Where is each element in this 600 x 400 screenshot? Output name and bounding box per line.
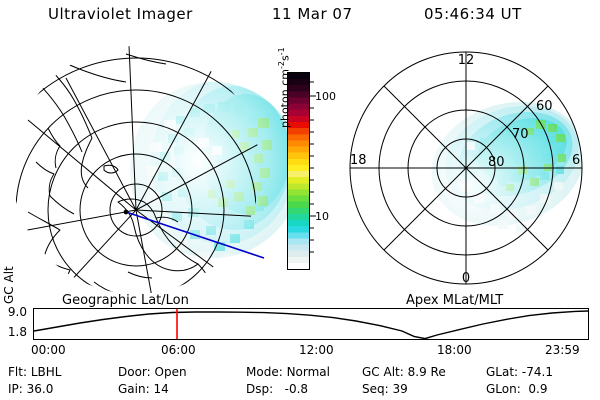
orbit-altitude-trace	[34, 311, 588, 339]
status-glon-value: 0.9	[528, 382, 547, 396]
status-glon-label: GLon:	[486, 382, 521, 396]
status-mode-label: Mode:	[246, 365, 283, 379]
orbit-xtick-0600: 06:00	[161, 344, 196, 356]
orbit-altitude-chart[interactable]: GC Alt 9.0 1.8 00:00 06:00 12:00 18:00 2…	[33, 308, 589, 340]
uvi-display: Ultraviolet Imager 11 Mar 07 05:46:34 UT	[0, 0, 600, 400]
apex-panel-caption: Apex MLat/MLT	[406, 294, 503, 307]
status-glon: GLon: 0.9	[486, 383, 548, 395]
status-dsp-value: -0.8	[285, 382, 308, 396]
status-glat-value: -74.1	[522, 365, 553, 379]
mlat-label-80: 80	[488, 155, 505, 170]
mlt-dial-grid	[350, 52, 582, 284]
orbit-ytick-bottom: 1.8	[8, 326, 27, 338]
colorbar-tick-100: 100	[315, 91, 336, 102]
status-glat-label: GLat:	[486, 365, 518, 379]
status-gain-label: Gain:	[118, 382, 150, 396]
status-dsp: Dsp: -0.8	[246, 383, 308, 395]
status-dsp-label: Dsp:	[246, 382, 273, 396]
instrument-title: Ultraviolet Imager	[48, 7, 193, 22]
status-door: Door: Open	[118, 366, 187, 378]
colorbar-axis-title: photon cm-2s-1	[278, 112, 291, 128]
status-flt-value: LBHL	[31, 365, 62, 379]
status-door-value: Open	[155, 365, 187, 379]
orbit-y-axis-label: GC Alt	[2, 290, 16, 304]
observation-date: 11 Mar 07	[272, 7, 353, 22]
status-seq: Seq: 39	[362, 383, 408, 395]
status-gcalt-value: 8.9 Re	[408, 365, 446, 379]
status-seq-value: 39	[393, 382, 408, 396]
status-mode: Mode: Normal	[246, 366, 330, 378]
status-ip: IP: 36.0	[8, 383, 53, 395]
colorbar-title-exp2: -1	[277, 47, 286, 55]
orbit-xtick-2359: 23:59	[545, 344, 580, 356]
mlt-label-6: 6	[572, 153, 580, 168]
geographic-map-panel[interactable]	[8, 42, 264, 298]
orbit-xtick-1200: 12:00	[299, 344, 334, 356]
status-gain: Gain: 14	[118, 383, 169, 395]
orbit-ytick-top: 9.0	[8, 306, 27, 318]
colorbar-title-main: photon cm	[279, 69, 292, 128]
status-gcalt: GC Alt: 8.9 Re	[362, 366, 446, 378]
status-seq-label: Seq:	[362, 382, 389, 396]
status-gcalt-label: GC Alt:	[362, 365, 404, 379]
apex-mlt-dial-panel[interactable]: 12 18 6 0 60 70 80	[340, 42, 592, 294]
colorbar-tick-10: 10	[315, 211, 329, 222]
orbit-track-plot	[33, 308, 589, 340]
aurora-emission-geographic	[123, 76, 303, 264]
mlat-label-60: 60	[536, 99, 553, 114]
mlt-label-12: 12	[458, 53, 475, 68]
sub-satellite-point	[124, 210, 129, 215]
status-door-label: Door:	[118, 365, 151, 379]
status-ip-value: 36.0	[27, 382, 54, 396]
orbit-xtick-1800: 18:00	[437, 344, 472, 356]
status-ip-label: IP:	[8, 382, 23, 396]
status-flt: Flt: LBHL	[8, 366, 61, 378]
status-gain-value: 14	[153, 382, 168, 396]
status-flt-label: Flt:	[8, 365, 27, 379]
geographic-panel-caption: Geographic Lat/Lon	[62, 294, 189, 307]
colorbar: 100 10 photon cm-2s-1	[284, 68, 336, 274]
orbit-xtick-0000: 00:00	[31, 344, 66, 356]
status-footer: Flt: LBHL IP: 36.0 Door: Open Gain: 14 M…	[0, 362, 600, 400]
colorbar-title-exp1: -2	[277, 61, 286, 69]
status-glat: GLat: -74.1	[486, 366, 553, 378]
mlt-label-0: 0	[462, 271, 470, 286]
colorbar-title-mid: s	[279, 55, 292, 61]
status-mode-value: Normal	[287, 365, 330, 379]
mlt-label-18: 18	[350, 153, 367, 168]
observation-time: 05:46:34 UT	[424, 7, 522, 22]
mlat-label-70: 70	[512, 127, 529, 142]
